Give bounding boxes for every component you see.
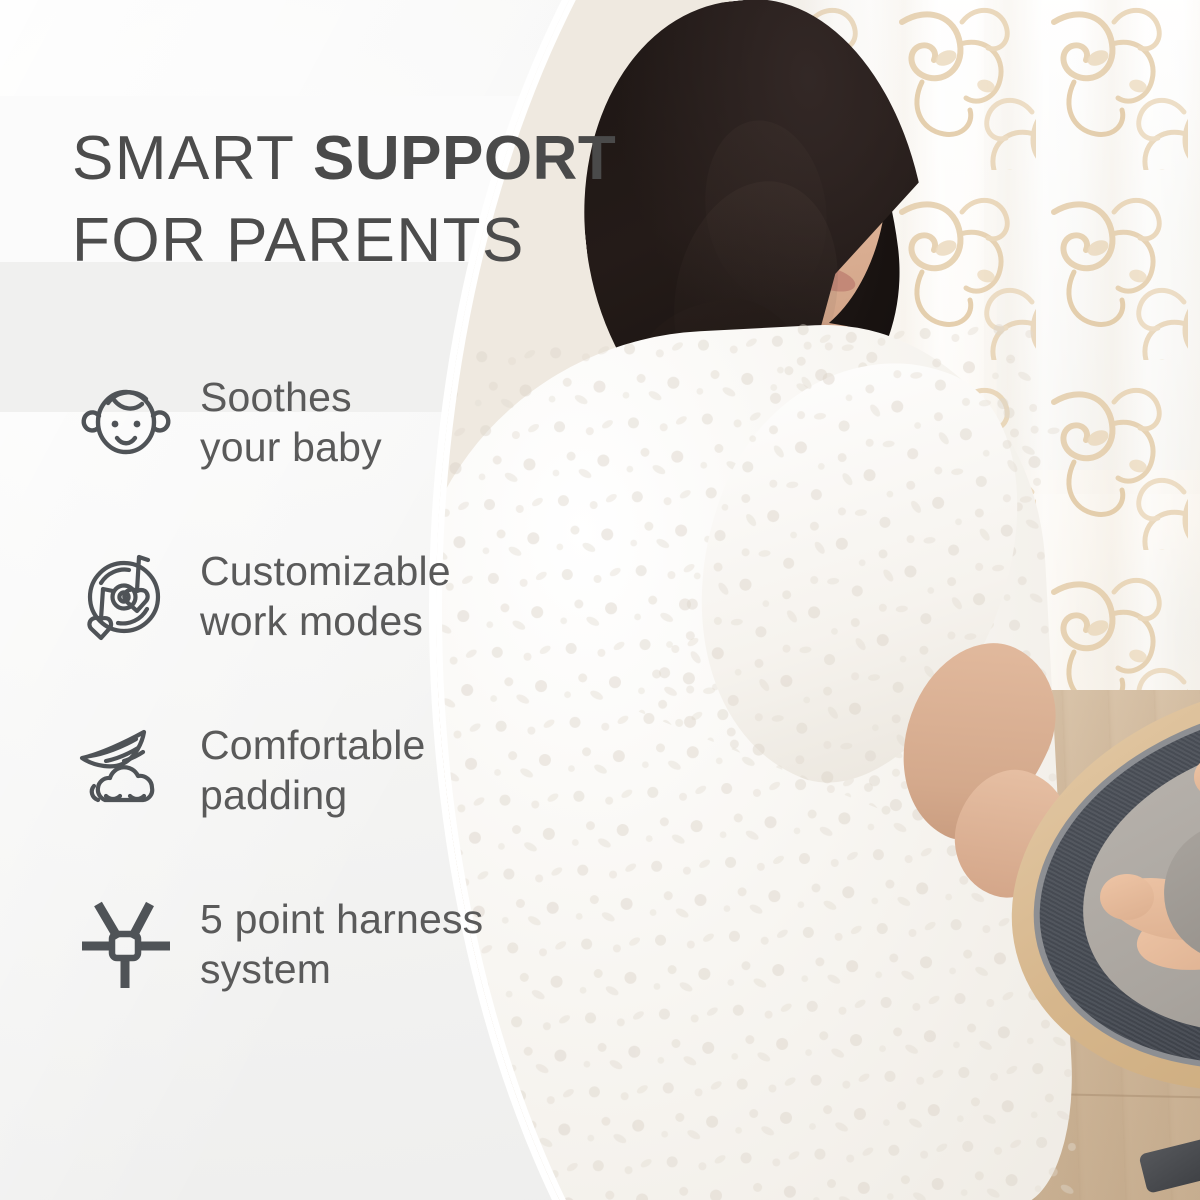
headline-line-2: FOR PARENTS: [72, 200, 672, 282]
feature-line-1: Comfortable: [200, 722, 426, 768]
bouncer-foot: [1138, 1134, 1200, 1194]
feature-line-2: your baby: [200, 422, 382, 472]
feature-list: Soothes your baby Customizab: [74, 360, 574, 1006]
feature-item-soothes: Soothes your baby: [74, 360, 574, 484]
feature-label-padding: Comfortable padding: [200, 720, 426, 820]
baby-face-icon: [74, 370, 178, 474]
five-point-harness-icon: [74, 892, 178, 996]
feature-item-padding: Comfortable padding: [74, 708, 574, 832]
feature-label-work-modes: Customizable work modes: [200, 546, 451, 646]
headline-line-1: SMART SUPPORT: [72, 118, 672, 200]
vinyl-record-music-notes-icon: [74, 544, 178, 648]
feature-label-soothes: Soothes your baby: [200, 372, 382, 472]
marketing-banner: kikkaboo SMART SUPPORT FOR PARENTS: [0, 0, 1200, 1200]
feature-label-harness: 5 point harness system: [200, 894, 483, 994]
baby-foot: [1100, 874, 1154, 920]
feature-line-1: Customizable: [200, 548, 451, 594]
feature-item-work-modes: Customizable work modes: [74, 534, 574, 658]
feature-item-harness: 5 point harness system: [74, 882, 574, 1006]
page-title: SMART SUPPORT FOR PARENTS: [72, 118, 672, 282]
feature-line-1: Soothes: [200, 374, 352, 420]
feature-line-2: system: [200, 944, 483, 994]
feature-line-2: work modes: [200, 596, 451, 646]
feature-line-2: padding: [200, 770, 426, 820]
headline-support: SUPPORT: [313, 124, 616, 193]
headline-smart: SMART: [72, 124, 313, 193]
feature-line-1: 5 point harness: [200, 896, 483, 942]
feather-cloud-icon: [74, 718, 178, 822]
